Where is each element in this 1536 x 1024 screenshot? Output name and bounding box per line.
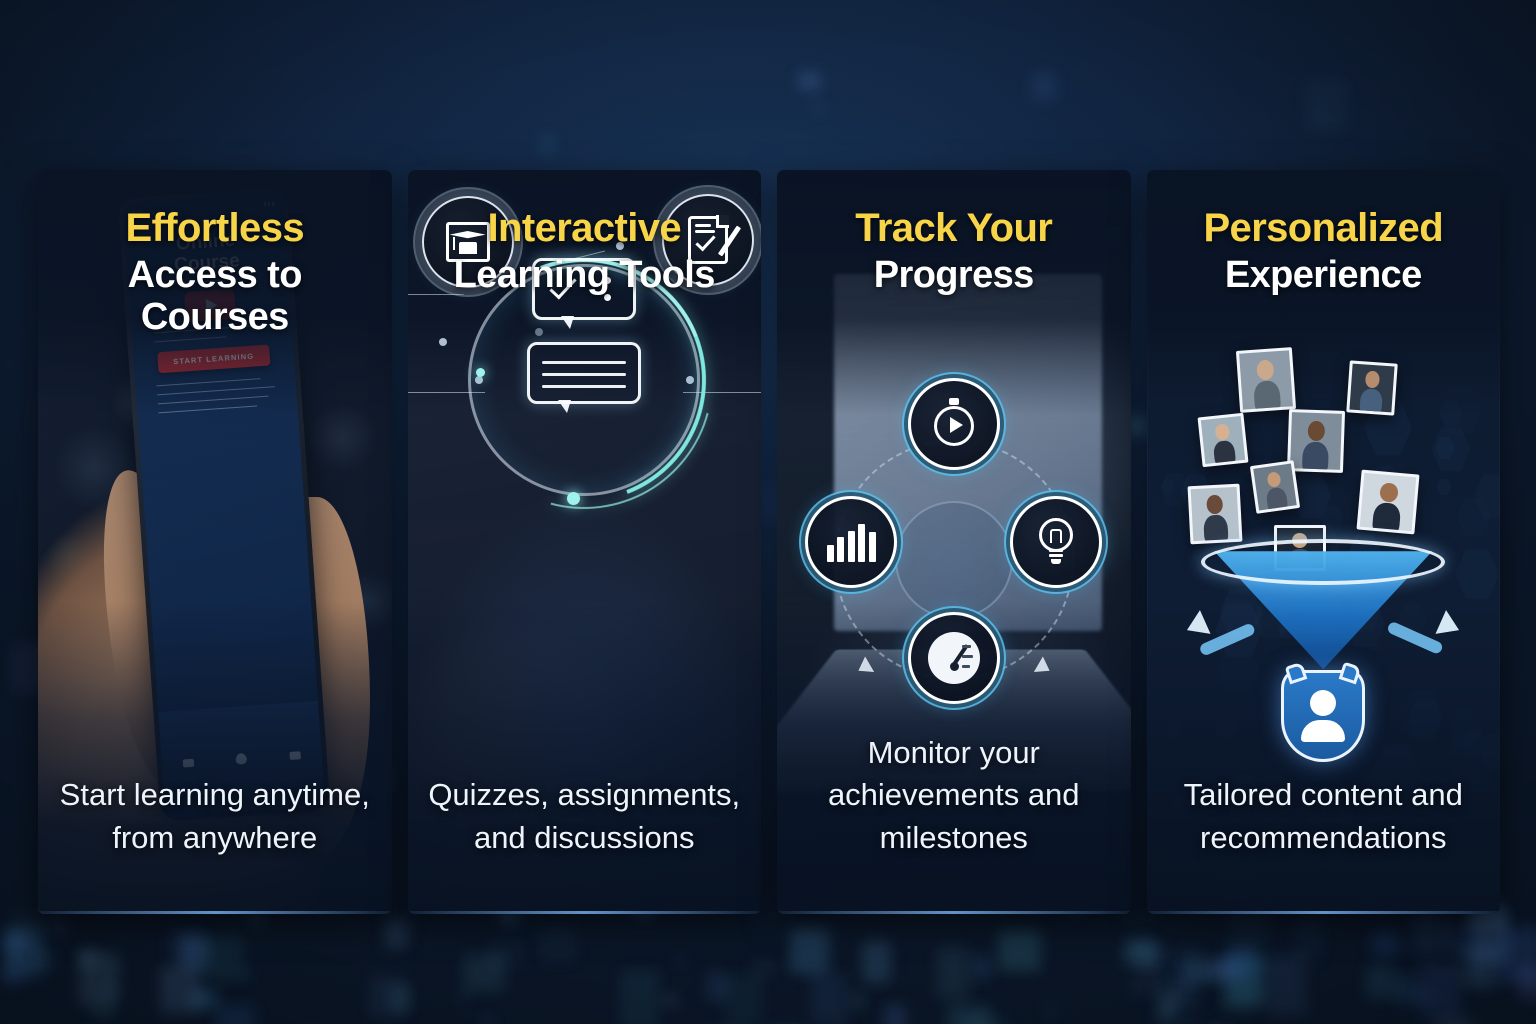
card1-headline-line2: Access to Courses — [52, 254, 378, 339]
card4-headline: Personalized Experience — [1147, 170, 1501, 296]
card1-headline-line1: Effortless — [52, 208, 378, 250]
card4-headline-line2: Experience — [1161, 254, 1487, 297]
feature-card-interactive-tools[interactable]: Interactive Learning Tools Quizzes, assi… — [408, 170, 762, 914]
card4-caption: Tailored content and recommendations — [1147, 774, 1501, 914]
feature-card-effortless-access[interactable]: 9:41 Online Course START LEARNING — [38, 170, 392, 914]
card2-headline: Interactive Learning Tools — [408, 170, 762, 296]
card3-caption: Monitor your achievements and milestones — [777, 732, 1131, 914]
card1-caption: Start learning anytime, from anywhere — [38, 774, 392, 914]
feature-card-row: 9:41 Online Course START LEARNING — [38, 170, 1500, 914]
card2-headline-line1: Interactive — [422, 208, 748, 250]
card3-headline-line2: Progress — [791, 254, 1117, 297]
card2-caption: Quizzes, assignments, and discussions — [408, 774, 762, 914]
feature-card-track-progress[interactable]: Track Your Progress Monitor your achieve… — [777, 170, 1131, 914]
feature-card-personalized-experience[interactable]: Personalized Experience Tailored content… — [1147, 170, 1501, 914]
card3-headline: Track Your Progress — [777, 170, 1131, 296]
card2-headline-line2: Learning Tools — [422, 254, 748, 297]
card3-headline-line1: Track Your — [791, 208, 1117, 250]
card4-headline-line1: Personalized — [1161, 208, 1487, 250]
card1-headline: Effortless Access to Courses — [38, 170, 392, 339]
